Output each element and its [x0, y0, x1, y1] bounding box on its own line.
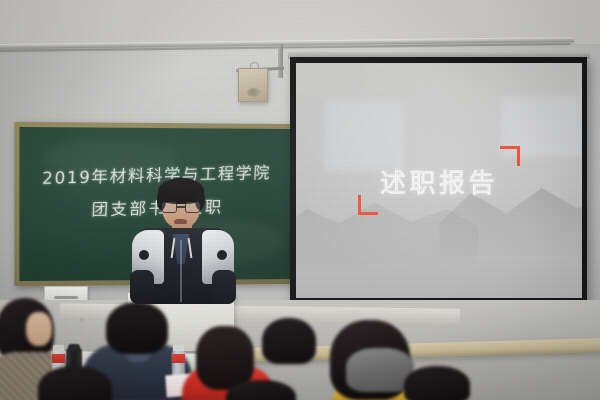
- audience-foreground: [0, 296, 600, 400]
- glasses-bridge: [177, 206, 185, 208]
- glasses-lens-left: [162, 202, 177, 213]
- rail-bracket: [278, 44, 283, 78]
- presenter-at-podium: [130, 178, 234, 303]
- audience-person-front-right-hair: [404, 366, 470, 400]
- wall-speaker-box: [238, 68, 268, 102]
- corner-bracket-bottom-left-icon: [358, 195, 378, 215]
- glasses-lens-right: [185, 202, 200, 213]
- audience-woman-houndstooth-face: [26, 312, 52, 346]
- projection-screen-surface: 述职报告: [296, 63, 582, 298]
- slide-title-area: 述职报告: [296, 157, 582, 206]
- classroom-photo: 2019年材料科学与工程学院 团支部书记述职 述职报告: [0, 0, 600, 400]
- water-bottle-cap: [173, 345, 184, 351]
- speaker-grille-icon: [247, 88, 261, 97]
- water-bottle-label: [52, 354, 65, 363]
- slide-title: 述职报告: [380, 163, 498, 200]
- water-bottle-label: [172, 354, 185, 363]
- hoodie-zipper: [180, 240, 182, 302]
- audience-child-front-left: [38, 366, 112, 400]
- hoodie-logo-left: [139, 250, 149, 260]
- thermos-cap: [68, 344, 80, 351]
- audience-man-blue-coat-hair: [106, 302, 168, 354]
- hoodie-logo-right: [217, 250, 227, 260]
- water-bottle-cap: [53, 345, 64, 351]
- slide-title-box: 述职报告: [362, 157, 516, 206]
- corner-bracket-top-right-icon: [500, 146, 520, 166]
- projection-screen-frame: 述职报告: [290, 57, 587, 305]
- audience-person-back-center-hair: [262, 318, 316, 364]
- glasses-icon: [162, 202, 200, 213]
